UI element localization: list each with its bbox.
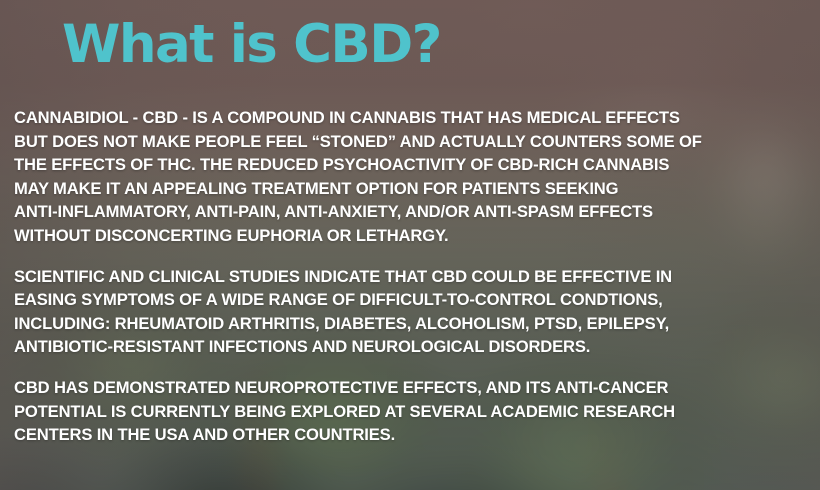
infographic-content: What is CBD? CANNABIDIOL - CBD - IS A CO… [0, 0, 820, 490]
paragraph-2: SCIENTIFIC AND CLINICAL STUDIES INDICATE… [14, 265, 806, 359]
body-copy: CANNABIDIOL - CBD - IS A COMPOUND IN CAN… [14, 71, 806, 447]
paragraph-1: CANNABIDIOL - CBD - IS A COMPOUND IN CAN… [14, 106, 806, 248]
cbd-infographic: What is CBD? CANNABIDIOL - CBD - IS A CO… [0, 0, 820, 490]
page-title: What is CBD? [14, 0, 806, 71]
paragraph-3: CBD HAS DEMONSTRATED NEUROPROTECTIVE EFF… [14, 376, 806, 447]
